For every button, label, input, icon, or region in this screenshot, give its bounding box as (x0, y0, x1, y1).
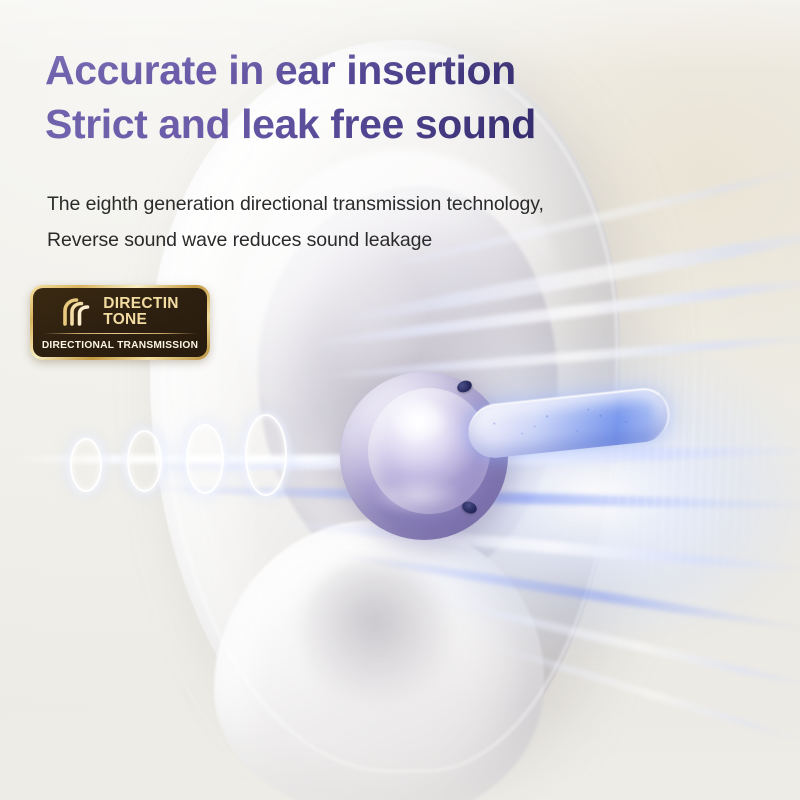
page-subtitle: The eighth generation directional transm… (47, 186, 544, 258)
badge-brand-line-1: DIRECTIN (103, 296, 179, 312)
badge-brand-line-2: TONE (103, 312, 179, 328)
badge-caption-row: DIRECTIONAL TRANSMISSION (42, 334, 198, 357)
earbud-bounce-light (372, 476, 464, 514)
product-marketing-banner: Accurate in ear insertion Strict and lea… (0, 0, 800, 800)
badge-caption: DIRECTIONAL TRANSMISSION (42, 340, 198, 351)
page-title: Accurate in ear insertion Strict and lea… (45, 43, 536, 151)
earbud-specular-highlight (388, 396, 450, 444)
directional-transmission-badge: DIRECTIN TONE DIRECTIONAL TRANSMISSION (30, 285, 210, 360)
badge-brand-text: DIRECTIN TONE (103, 296, 179, 328)
badge-brand-row: DIRECTIN TONE (33, 288, 207, 333)
badge-inner-panel: DIRECTIN TONE DIRECTIONAL TRANSMISSION (33, 288, 207, 357)
earbud-stem-highlight (468, 386, 672, 459)
sound-wave-arcs-icon (61, 298, 95, 326)
